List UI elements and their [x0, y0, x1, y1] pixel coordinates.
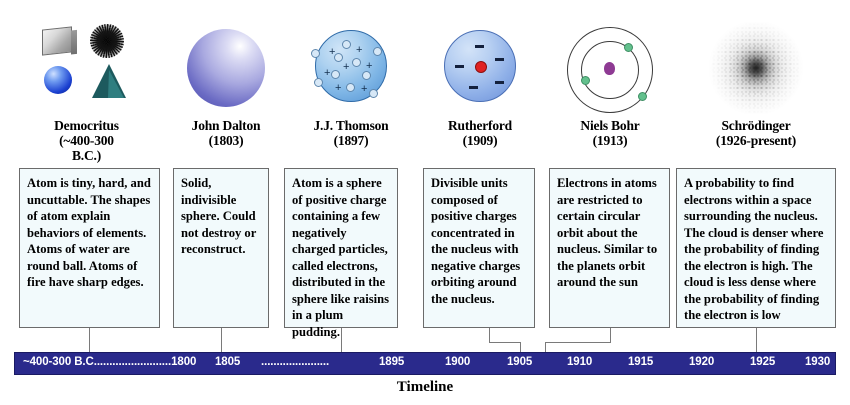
electron-dot — [373, 47, 382, 56]
negative-charge-mark — [469, 86, 478, 89]
scientist-name-jj-thomson: J.J. Thomson — [292, 118, 410, 133]
timeline-tick-5: 1905 — [507, 356, 532, 368]
scientist-column-democritus: Democritus (~400-300 B.C.) — [14, 18, 159, 163]
description-box-democritus: Atom is tiny, hard, and uncuttable. The … — [19, 168, 160, 328]
model-illustration-schrodinger — [676, 18, 836, 118]
positive-charge-glyph: + — [356, 45, 362, 56]
model-illustration-niels-bohr — [548, 18, 672, 118]
description-box-rutherford: Divisible units composed of positive cha… — [423, 168, 535, 328]
model-illustration-rutherford — [420, 18, 540, 118]
electron-dot — [362, 71, 371, 80]
description-box-niels-bohr: Electrons in atoms are restricted to cer… — [549, 168, 670, 328]
scientist-name-schrodinger: Schrödinger — [676, 118, 836, 133]
scientist-name-john-dalton: John Dalton — [162, 118, 290, 133]
connector-niels-bohr-vertical-lower — [545, 342, 546, 352]
electron-dot — [581, 76, 590, 85]
timeline-tick-8: 1920 — [689, 356, 714, 368]
connector-rutherford-vertical-upper — [489, 328, 490, 342]
electron-dot — [624, 43, 633, 52]
timeline-caption: Timeline — [0, 379, 850, 396]
electron-dot — [638, 92, 647, 101]
scientist-column-john-dalton: John Dalton (1803) — [162, 18, 290, 148]
scientist-date-niels-bohr: (1913) — [548, 133, 672, 148]
electron-dot — [334, 53, 343, 62]
nucleus-icon — [475, 61, 487, 73]
model-illustration-democritus — [14, 18, 159, 118]
timeline-tick-1: 1805 — [215, 356, 240, 368]
electron-cloud-grain — [708, 22, 804, 114]
positive-charge-glyph: + — [361, 84, 367, 95]
connector-niels-bohr-horizontal — [545, 342, 611, 343]
negative-charge-mark — [495, 81, 504, 84]
plum-pudding-sphere-icon: + + + + + + + — [315, 30, 387, 102]
timeline-tick-2: ...................... — [261, 356, 329, 368]
connector-jj-thomson — [341, 328, 342, 352]
pyramid-shape-icon — [92, 64, 126, 98]
scientist-date-schrodinger: (1926-present) — [676, 133, 836, 148]
positive-charge-glyph: + — [324, 68, 330, 79]
atomic-model-timeline-diagram: Democritus (~400-300 B.C.) Atom is tiny,… — [0, 0, 850, 405]
timeline-bar: ~400-300 B.C.........................180… — [14, 352, 836, 375]
connector-niels-bohr-vertical-upper — [610, 328, 611, 342]
model-illustration-jj-thomson: + + + + + + + — [292, 18, 410, 118]
electron-dot — [352, 58, 361, 67]
timeline-tick-7: 1915 — [628, 356, 653, 368]
connector-schrodinger — [756, 328, 757, 352]
timeline-tick-6: 1910 — [567, 356, 592, 368]
timeline-tick-4: 1900 — [445, 356, 470, 368]
electron-dot — [342, 40, 351, 49]
negative-charge-mark — [455, 65, 464, 68]
scientist-date-democritus-line1: (~400-300 — [14, 133, 159, 148]
scientist-column-schrodinger: Schrödinger (1926-present) — [676, 18, 836, 148]
connector-john-dalton — [221, 328, 222, 352]
electron-dot — [311, 49, 320, 58]
connector-rutherford-vertical-lower — [520, 342, 521, 352]
spiky-ball-shape-icon — [90, 24, 124, 58]
scientist-name-rutherford: Rutherford — [420, 118, 540, 133]
description-box-jj-thomson: Atom is a sphere of positive charge cont… — [284, 168, 398, 328]
scientist-name-niels-bohr: Niels Bohr — [548, 118, 672, 133]
scientist-column-jj-thomson: + + + + + + + J.J. Thomson (1897) — [292, 18, 410, 148]
timeline-tick-0: ~400-300 B.C.........................180… — [23, 356, 196, 368]
scientist-column-rutherford: Rutherford (1909) — [420, 18, 540, 148]
electron-dot — [314, 78, 323, 87]
negative-charge-mark — [475, 45, 484, 48]
scientist-date-john-dalton: (1803) — [162, 133, 290, 148]
electron-cloud-icon — [708, 22, 804, 114]
model-illustration-john-dalton — [162, 18, 290, 118]
scientist-date-jj-thomson: (1897) — [292, 133, 410, 148]
timeline-tick-3: 1895 — [379, 356, 404, 368]
positive-charge-glyph: + — [343, 62, 349, 73]
description-box-schrodinger: A probability to find electrons within a… — [676, 168, 836, 328]
positive-charge-glyph: + — [335, 83, 341, 94]
scientist-date-democritus-line2: B.C.) — [14, 148, 159, 163]
description-box-john-dalton: Solid, indivisible sphere. Could not des… — [173, 168, 269, 328]
scientist-name-democritus: Democritus — [14, 118, 159, 133]
scientist-column-niels-bohr: Niels Bohr (1913) — [548, 18, 672, 148]
timeline-tick-9: 1925 — [750, 356, 775, 368]
solid-sphere-icon — [187, 29, 265, 107]
electron-dot — [331, 70, 340, 79]
nucleus-icon — [604, 62, 615, 75]
timeline-tick-10: 1930 — [805, 356, 830, 368]
scientist-date-rutherford: (1909) — [420, 133, 540, 148]
connector-democritus — [89, 328, 90, 352]
nuclear-model-sphere-icon — [444, 30, 516, 102]
blue-sphere-shape-icon — [44, 66, 72, 94]
electron-dot — [369, 89, 378, 98]
electron-dot — [346, 83, 355, 92]
cube-shape-icon — [42, 26, 72, 55]
connector-rutherford-horizontal — [489, 342, 520, 343]
negative-charge-mark — [495, 58, 504, 61]
